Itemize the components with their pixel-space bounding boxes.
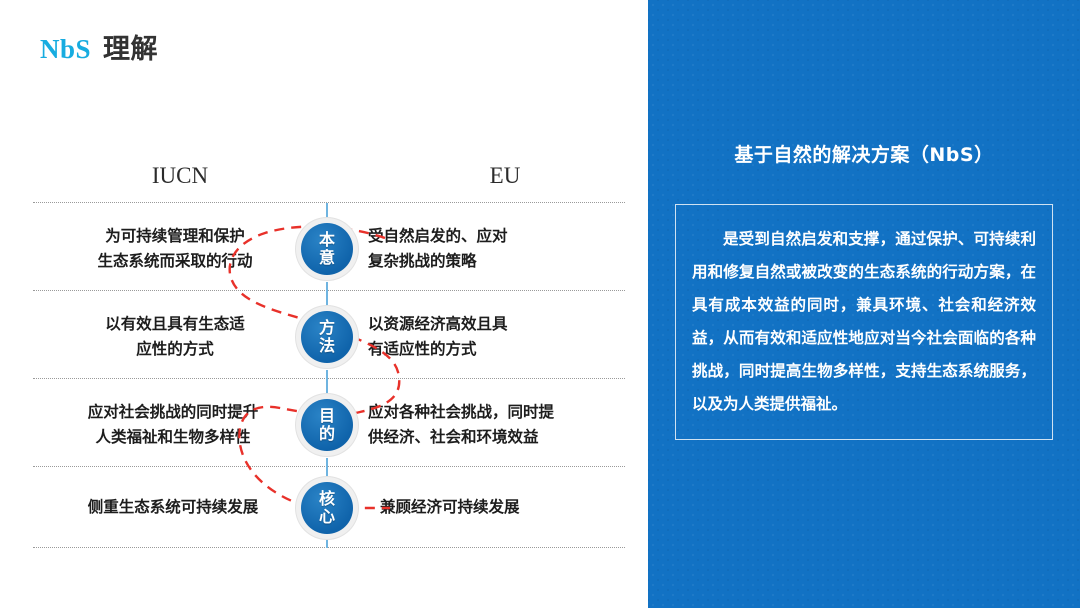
cell-eu-row-3: 兼顾经济可持续发展	[380, 495, 630, 520]
definition-panel: 基于自然的解决方案（NbS） 是受到自然启发和支撑，通过保护、可持续利用和修复自…	[648, 0, 1080, 608]
node-char: 的	[319, 425, 335, 443]
spine-segment	[326, 536, 328, 548]
cell-line: 复杂挑战的策略	[368, 249, 618, 274]
cell-line: 以有效且具有生态适	[60, 312, 290, 337]
node-hexin[interactable]: 核 心	[301, 482, 353, 534]
node-mudi[interactable]: 目 的	[301, 399, 353, 451]
cell-line: 生态系统而采取的行动	[60, 249, 290, 274]
cell-iucn-row-0: 为可持续管理和保护 生态系统而采取的行动	[60, 224, 290, 274]
row-separator	[33, 290, 625, 291]
panel-definition-box: 是受到自然启发和支撑，通过保护、可持续利用和修复自然或被改变的生态系统的行动方案…	[675, 204, 1053, 440]
cell-iucn-row-3: 侧重生态系统可持续发展	[48, 495, 298, 520]
panel-title: 基于自然的解决方案（NbS）	[648, 140, 1080, 167]
cell-line: 以资源经济高效且具	[368, 312, 618, 337]
cell-iucn-row-2: 应对社会挑战的同时提升 人类福祉和生物多样性	[48, 400, 298, 450]
cell-line: 应性的方式	[60, 337, 290, 362]
cell-line: 兼顾经济可持续发展	[380, 495, 630, 520]
node-char: 核	[319, 490, 335, 508]
row-separator	[33, 202, 625, 203]
cell-line: 人类福祉和生物多样性	[48, 425, 298, 450]
node-char: 意	[319, 249, 335, 267]
node-fangfa[interactable]: 方 法	[301, 311, 353, 363]
cell-eu-row-2: 应对各种社会挑战，同时提 供经济、社会和环境效益	[368, 400, 618, 450]
cell-line: 侧重生态系统可持续发展	[48, 495, 298, 520]
node-char: 法	[319, 337, 335, 355]
node-char: 本	[319, 231, 335, 249]
node-char: 方	[319, 319, 335, 337]
cell-line: 受自然启发的、应对	[368, 224, 618, 249]
row-separator	[33, 547, 625, 548]
node-benyi[interactable]: 本 意	[301, 223, 353, 275]
cell-line: 应对各种社会挑战，同时提	[368, 400, 618, 425]
cell-line: 为可持续管理和保护	[60, 224, 290, 249]
row-separator	[33, 466, 625, 467]
cell-eu-row-0: 受自然启发的、应对 复杂挑战的策略	[368, 224, 618, 274]
cell-line: 供经济、社会和环境效益	[368, 425, 618, 450]
cell-eu-row-1: 以资源经济高效且具 有适应性的方式	[368, 312, 618, 362]
cell-line: 应对社会挑战的同时提升	[48, 400, 298, 425]
comparison-diagram: IUCN EU 为可持续管理和保护 生态系统而采取的行动 受自然启发的、应对 复…	[0, 0, 648, 608]
node-char: 心	[319, 508, 335, 526]
cell-iucn-row-1: 以有效且具有生态适 应性的方式	[60, 312, 290, 362]
column-header-iucn: IUCN	[100, 163, 260, 189]
row-separator	[33, 378, 625, 379]
cell-line: 有适应性的方式	[368, 337, 618, 362]
column-header-eu: EU	[425, 163, 585, 189]
node-char: 目	[319, 407, 335, 425]
panel-definition-text: 是受到自然启发和支撑，通过保护、可持续利用和修复自然或被改变的生态系统的行动方案…	[692, 223, 1036, 421]
